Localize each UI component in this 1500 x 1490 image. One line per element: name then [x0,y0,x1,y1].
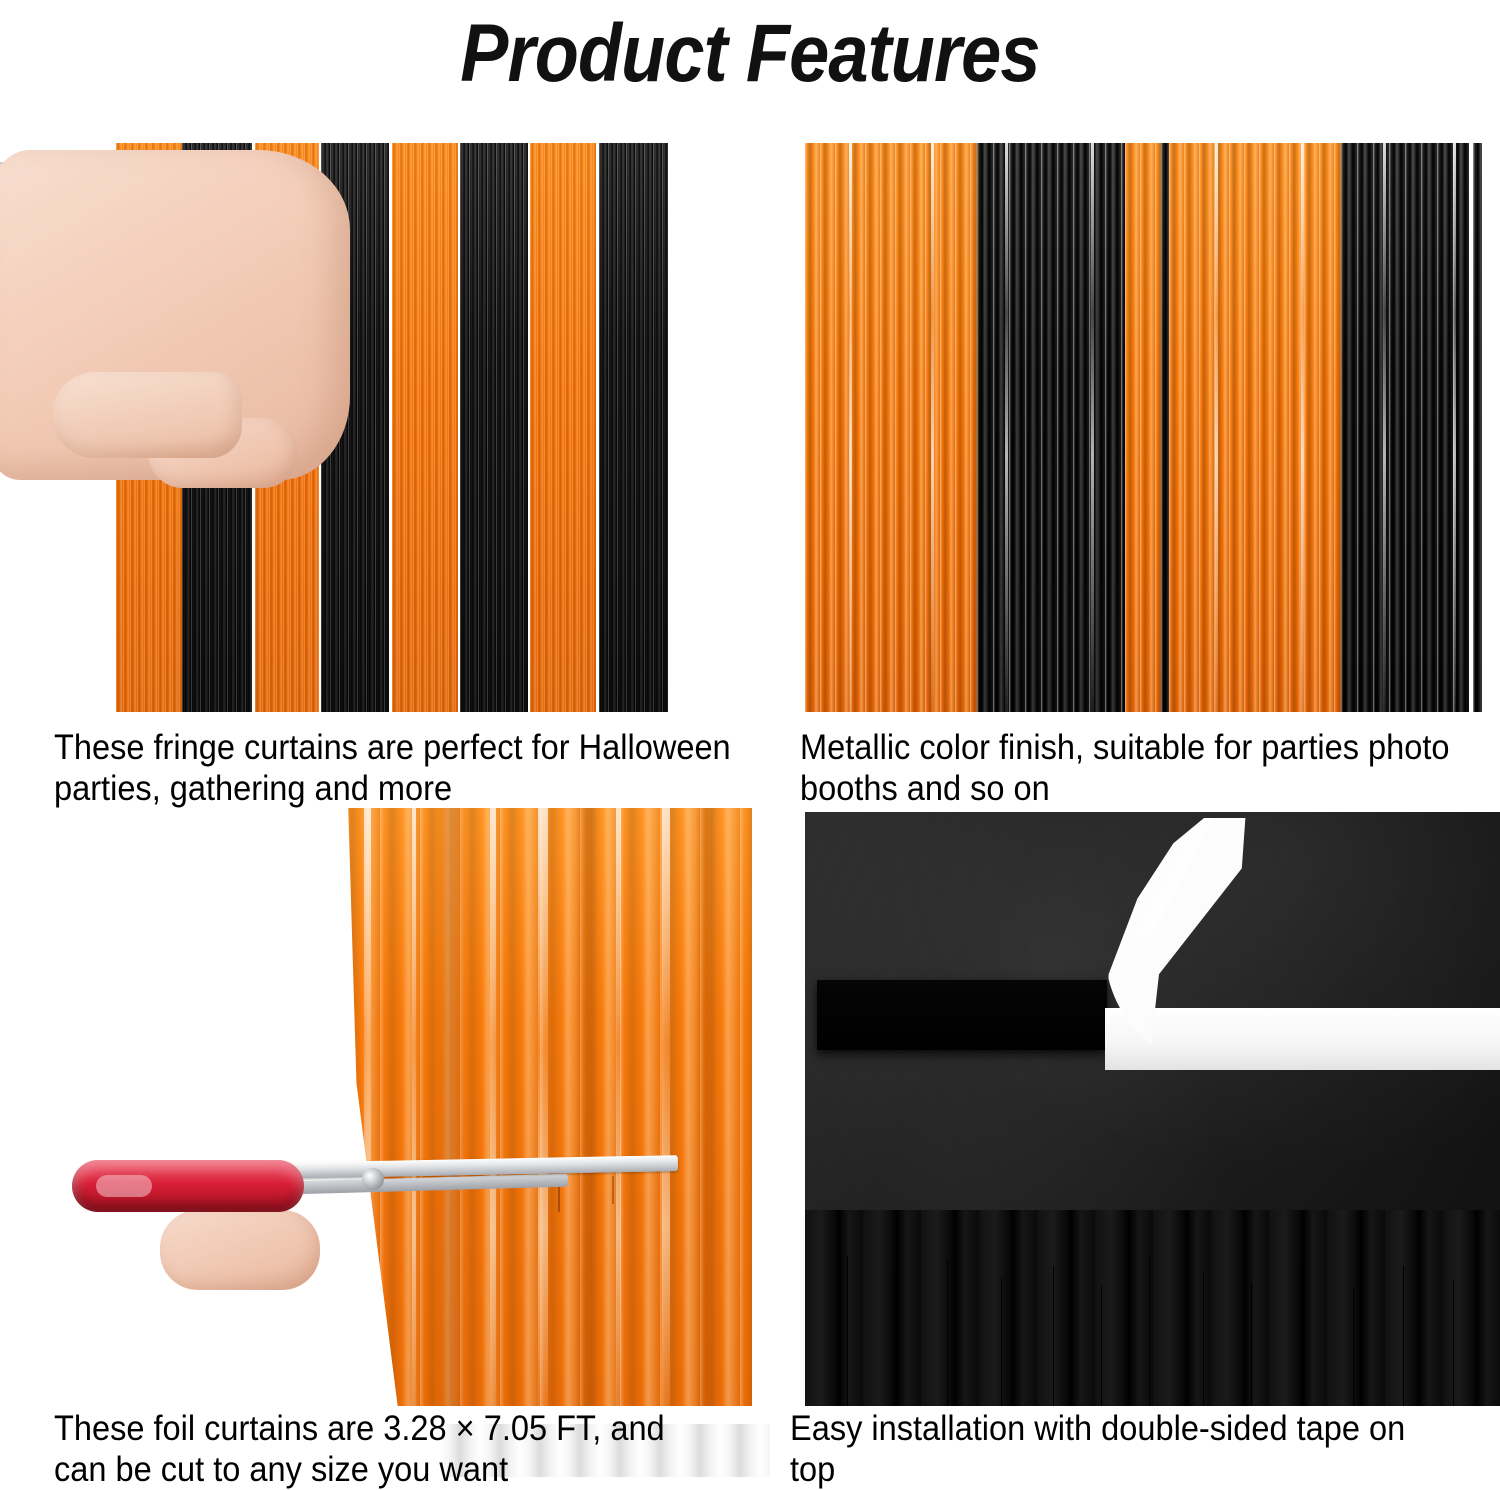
fringe-cut-line [1403,1266,1404,1406]
foil-gloss-highlight [538,808,548,1406]
foil-gloss-highlight [849,143,852,712]
foil-gloss-highlight [662,808,670,1406]
fringe-cut-line [1453,1280,1454,1406]
foil-fold-shadow [696,808,716,1406]
fringe-cut-line [1301,1260,1302,1406]
feature-caption-fringe-closeup: Metallic color finish, suitable for part… [800,727,1451,809]
page-title: Product Features [90,2,1410,106]
fringe-stripe-orange [805,143,977,712]
fringe-cut-line [1353,1288,1354,1406]
fringe-cut-line [1053,1266,1054,1406]
fringe-cut-line [1203,1272,1204,1406]
cut-slit [612,1176,614,1204]
feature-image-fringe-closeup [805,143,1482,712]
foil-gloss-highlight [1301,143,1304,712]
feature-image-cutting [0,806,768,1406]
fringe-cut-line [1149,1256,1150,1406]
fringe-cut-line [1101,1286,1102,1406]
foil-fold-shadow [436,808,466,1406]
foil-gloss-highlight [1005,143,1008,712]
thumb [52,372,242,458]
scissors-handle-hole [96,1175,152,1197]
scissors-pivot-screw [362,1168,384,1190]
fringe-stripe-orange [392,143,458,712]
double-sided-tape-strip [1105,1008,1500,1070]
orange-foil-curtain [340,808,752,1406]
feature-caption-fringe-wide: These fringe curtains are perfect for Ha… [54,727,761,809]
fringe-cut-line [847,1256,848,1406]
foil-gloss-highlight [1091,143,1094,712]
foil-gloss-highlight [931,143,934,712]
foil-gloss-highlight [1453,143,1456,712]
black-fringe-strips [805,1210,1500,1406]
feature-caption-cutting: These foil curtains are 3.28 × 7.05 FT, … [54,1408,724,1490]
fringe-cut-line [947,1260,948,1406]
feature-image-tape [805,812,1500,1406]
foil-gloss-highlight [1383,143,1386,712]
fringe-stripe-black [1473,143,1482,712]
fringe-stripe-black [460,143,528,712]
foil-gloss-highlight [412,808,416,1406]
black-tape-backing [817,980,1107,1050]
fringe-stripe-orange [1125,143,1161,712]
fringe-stripe-black [599,143,668,712]
fringe-stripe-black [1161,143,1169,712]
finger [160,1210,320,1290]
fringe-cut-line [893,1274,894,1406]
fringe-cut-line [1001,1278,1002,1406]
fringe-stripe-black [977,143,1125,712]
foil-gloss-highlight [1215,143,1218,712]
fringe-stripe-orange [1169,143,1341,712]
foil-gloss-highlight [616,808,621,1406]
fringe-cut-line [1251,1282,1252,1406]
foil-gloss-highlight [490,808,496,1406]
fringe-stripe-black [1341,143,1469,712]
foil-fold-shadow [576,808,598,1406]
foil-gloss-highlight [364,808,371,1406]
fringe-stripe-orange [530,143,596,712]
feature-caption-tape: Easy installation with double-sided tape… [790,1408,1450,1490]
